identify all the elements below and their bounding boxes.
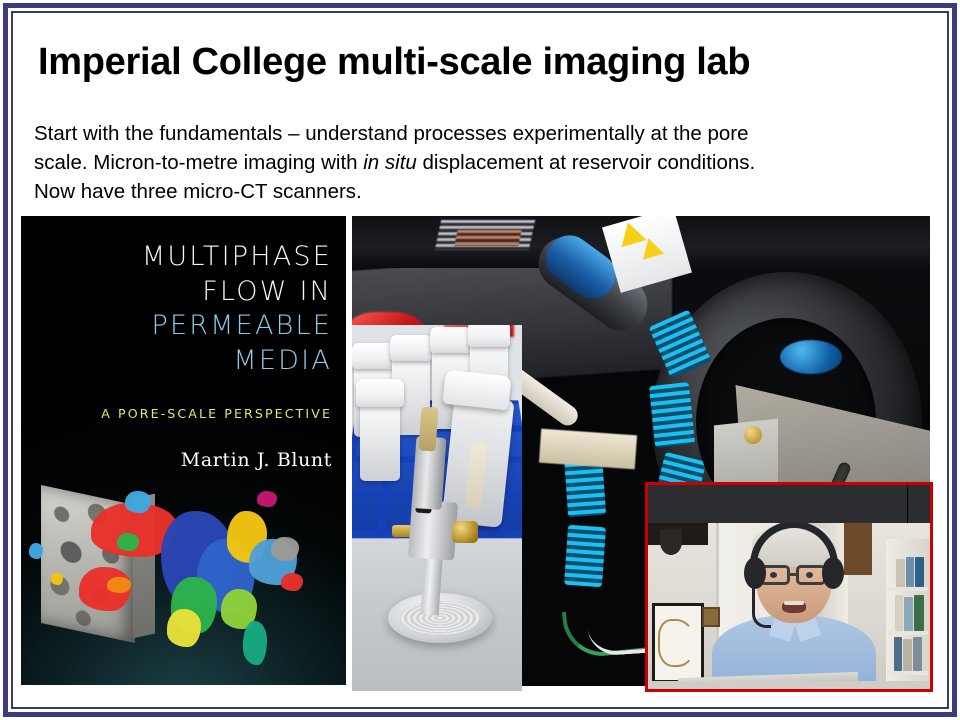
book-title-line-2: FLOW IN: [35, 275, 332, 310]
lamp: [660, 529, 682, 555]
headset-earcup-right: [822, 557, 844, 589]
body-line-3: Now have three micro-CT scanners.: [34, 180, 362, 203]
page-title: Imperial College multi-scale imaging lab: [38, 42, 918, 84]
book-title-block: MULTIPHASE FLOW IN PERMEABLE MEDIA: [35, 240, 332, 378]
body-line-1: Start with the fundamentals – understand…: [34, 122, 749, 145]
book-title-line-3: PERMEABLE: [35, 309, 332, 344]
video-call-window[interactable]: [645, 482, 933, 692]
book-cover-image: MULTIPHASE FLOW IN PERMEABLE MEDIA A POR…: [21, 216, 346, 685]
video-toolbar[interactable]: [648, 485, 930, 524]
headset-microphone: [752, 585, 771, 628]
body-line-2a: scale. Micron-to-metre imaging with: [34, 151, 363, 174]
pore-network-artwork: [21, 481, 346, 685]
slide-body-text: Start with the fundamentals – understand…: [34, 119, 904, 206]
body-line-2-italic: in situ: [363, 151, 417, 174]
book-title-line-1: MULTIPHASE: [35, 240, 332, 275]
bookshelf: [886, 539, 930, 689]
book-author: Martin J. Blunt: [181, 449, 332, 471]
book-title-line-4: MEDIA: [35, 344, 332, 379]
video-feed: [648, 523, 930, 689]
presentation-slide: Imperial College multi-scale imaging lab…: [0, 0, 960, 720]
brass-fitting: [452, 521, 478, 543]
toolbar-divider: [907, 485, 908, 523]
book-subtitle: A PORE-SCALE PERSPECTIVE: [101, 406, 332, 421]
core-sample-vials-photo: [352, 325, 522, 691]
body-line-2b: displacement at reservoir conditions.: [417, 151, 755, 174]
rock-core-sample: [418, 406, 438, 451]
